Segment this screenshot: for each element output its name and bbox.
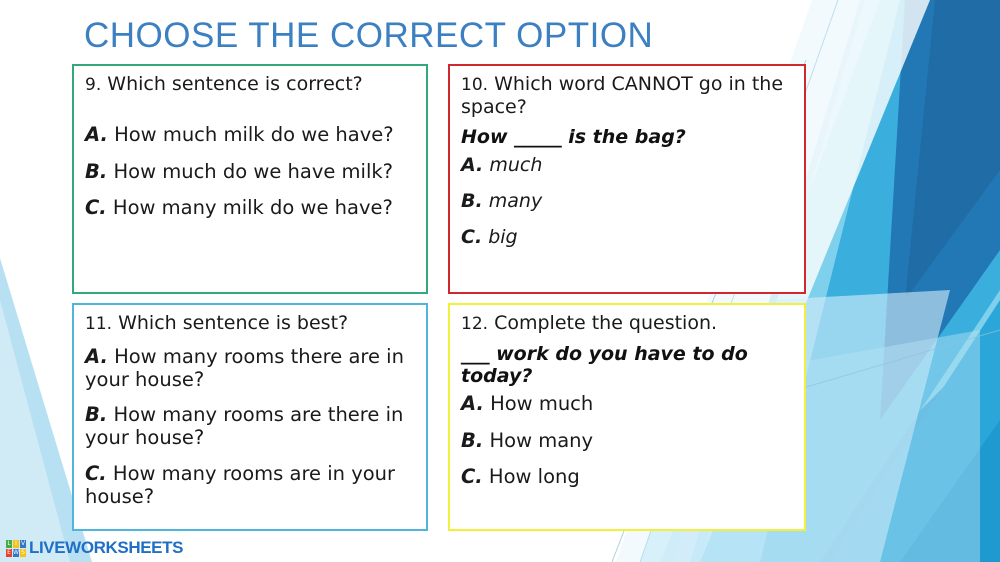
option-label: B. <box>85 160 107 183</box>
logo-tile: L <box>6 540 12 548</box>
question-card-12: 12. Complete the question. ___ work do y… <box>448 303 806 531</box>
liveworksheets-grid-icon: L I V E W S <box>6 540 26 557</box>
option-c[interactable]: C. big <box>461 226 794 248</box>
option-label: A. <box>85 345 108 368</box>
question-prompt: ___ work do you have to do today? <box>461 343 794 387</box>
question-number: 9. <box>85 75 101 95</box>
question-stem: 9. Which sentence is correct? <box>85 73 416 96</box>
option-b[interactable]: B. How much do we have milk? <box>85 161 416 184</box>
option-b[interactable]: B. How many rooms are there in your hous… <box>85 404 416 450</box>
option-text: How many rooms there are in your house? <box>85 345 404 391</box>
logo-tile: V <box>20 540 26 548</box>
option-label: C. <box>85 462 107 485</box>
option-a[interactable]: A. How much <box>461 393 794 416</box>
option-label: A. <box>85 123 108 146</box>
question-prompt: How _____ is the bag? <box>461 126 794 148</box>
question-text: Which sentence is correct? <box>107 73 362 95</box>
option-a[interactable]: A. How many rooms there are in your hous… <box>85 346 416 392</box>
option-c[interactable]: C. How many milk do we have? <box>85 197 416 220</box>
question-card-9: 9. Which sentence is correct? A. How muc… <box>72 64 428 294</box>
option-c[interactable]: C. How many rooms are in your house? <box>85 463 416 509</box>
question-card-10: 10. Which word CANNOT go in the space? H… <box>448 64 806 294</box>
option-label: B. <box>461 190 483 212</box>
option-label: C. <box>461 465 483 488</box>
logo-tile: I <box>13 540 19 548</box>
option-text: How many rooms are in your house? <box>85 462 395 508</box>
option-label: A. <box>461 154 483 176</box>
option-text: How much do we have milk? <box>113 160 393 183</box>
question-stem: 10. Which word CANNOT go in the space? <box>461 73 794 118</box>
question-number: 12. <box>461 314 488 334</box>
option-text: How many <box>489 429 593 452</box>
option-label: B. <box>85 403 107 426</box>
question-text: Which sentence is best? <box>118 312 348 334</box>
option-label: B. <box>461 429 483 452</box>
stem-spacer <box>85 98 416 124</box>
question-number: 11. <box>85 314 112 334</box>
logo-tile: W <box>13 549 19 557</box>
liveworksheets-logo[interactable]: L I V E W S LIVEWORKSHEETS <box>6 538 183 558</box>
logo-tile: S <box>20 549 26 557</box>
question-text: Complete the question. <box>494 312 717 334</box>
question-card-11: 11. Which sentence is best? A. How many … <box>72 303 428 531</box>
option-text: How much <box>490 392 593 415</box>
option-text: How many rooms are there in your house? <box>85 403 403 449</box>
option-text: big <box>488 226 517 248</box>
option-a[interactable]: A. much <box>461 154 794 176</box>
option-text: How many milk do we have? <box>113 196 393 219</box>
option-text: many <box>489 190 542 212</box>
liveworksheets-wordmark: LIVEWORKSHEETS <box>29 538 183 558</box>
logo-tile: E <box>6 549 12 557</box>
option-c[interactable]: C. How long <box>461 466 794 489</box>
option-text: much <box>489 154 542 176</box>
question-number: 10. <box>461 75 488 95</box>
question-stem: 11. Which sentence is best? <box>85 312 416 335</box>
option-a[interactable]: A. How much milk do we have? <box>85 124 416 147</box>
option-label: C. <box>85 196 107 219</box>
question-text: Which word CANNOT go in the space? <box>461 73 783 118</box>
page-title: CHOOSE THE CORRECT OPTION <box>84 16 653 56</box>
option-label: A. <box>461 392 484 415</box>
option-label: C. <box>461 226 482 248</box>
option-text: How much milk do we have? <box>114 123 394 146</box>
option-b[interactable]: B. How many <box>461 430 794 453</box>
option-b[interactable]: B. many <box>461 190 794 212</box>
question-stem: 12. Complete the question. <box>461 312 794 335</box>
option-text: How long <box>489 465 580 488</box>
